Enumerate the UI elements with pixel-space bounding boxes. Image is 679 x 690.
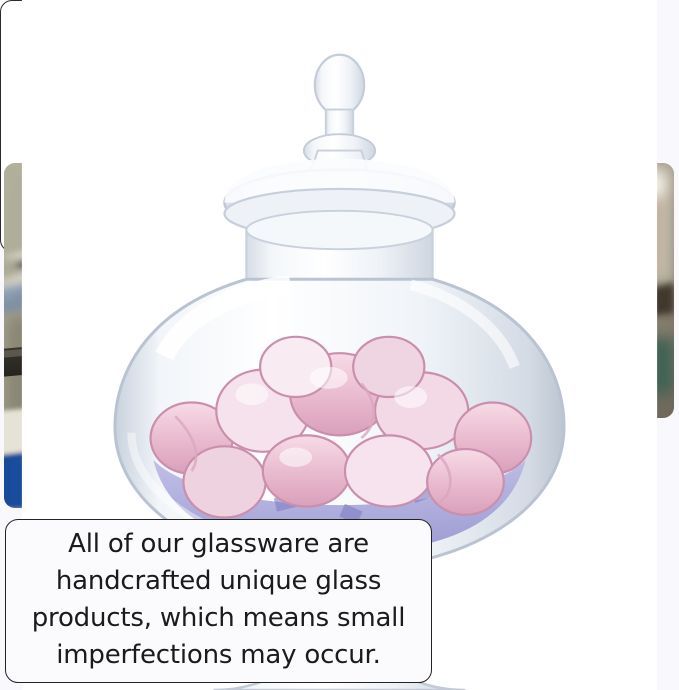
disclaimer-text: All of our glassware are handcrafted uni…: [18, 526, 419, 674]
infographic-page: Stella: [0, 0, 679, 690]
disclaimer-card: All of our glassware are handcrafted uni…: [5, 519, 432, 683]
glass-apothecary-jar-photo: [0, 0, 232, 252]
apothecary-jar-photo-panel: [0, 0, 232, 252]
